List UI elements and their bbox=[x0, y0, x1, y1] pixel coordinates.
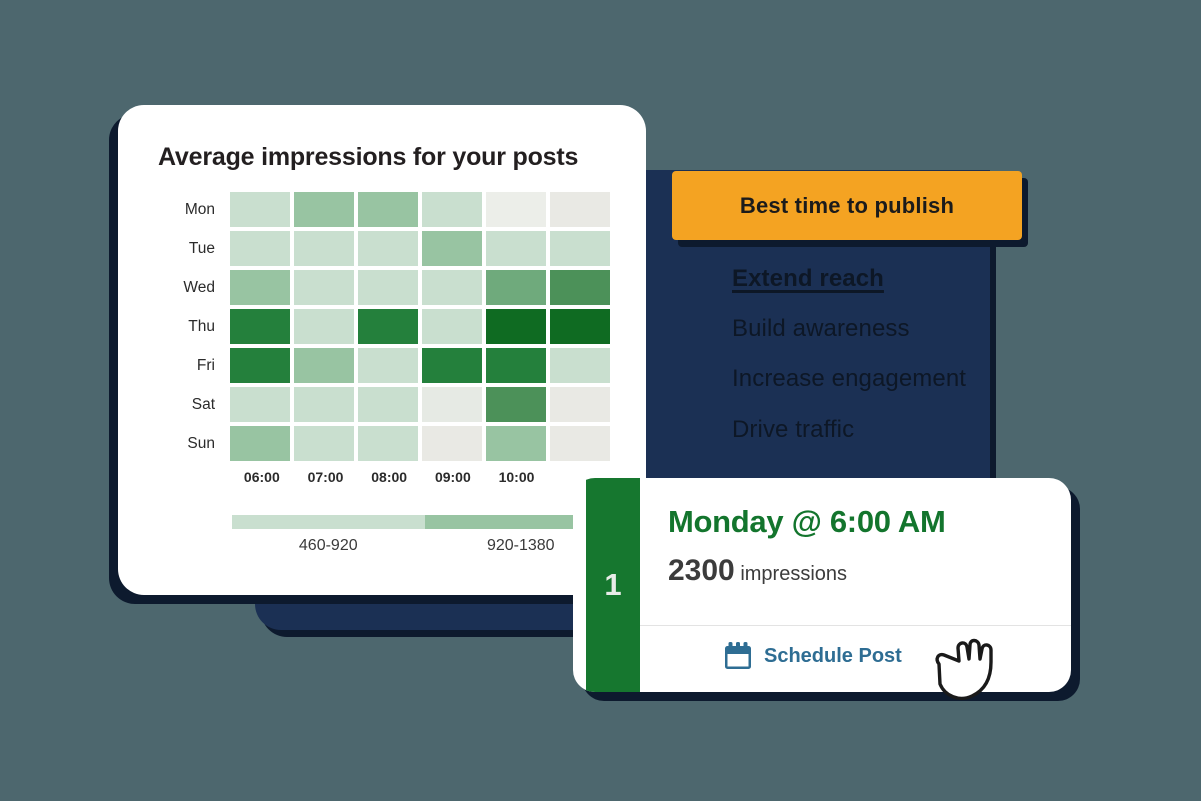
heatmap-cell[interactable] bbox=[358, 192, 418, 227]
heatmap-cell[interactable] bbox=[550, 270, 610, 305]
goal-item-build-awareness[interactable]: Build awareness bbox=[732, 316, 992, 341]
heatmap-cell[interactable] bbox=[358, 309, 418, 344]
recommendation-impressions: 2300 impressions bbox=[668, 554, 1071, 588]
screen-root: Extend reach Build awareness Increase en… bbox=[0, 0, 1201, 801]
page-title: Average impressions for your posts bbox=[158, 143, 578, 172]
heatmap-row-cells bbox=[230, 348, 610, 383]
heatmap-row: Thu bbox=[155, 307, 610, 346]
goal-label: Build awareness bbox=[732, 315, 910, 342]
legend-gradient-bar bbox=[232, 515, 617, 529]
heatmap-row-label: Sun bbox=[155, 435, 230, 453]
legend-labels: 460-920 920-1380 bbox=[232, 537, 617, 555]
heatmap-row: Tue bbox=[155, 229, 610, 268]
heatmap-cell[interactable] bbox=[486, 387, 546, 422]
heatmap-row: Mon bbox=[155, 190, 610, 229]
heatmap-cell[interactable] bbox=[550, 387, 610, 422]
x-axis-tick: 06:00 bbox=[232, 469, 292, 485]
heatmap-row-cells bbox=[230, 426, 610, 461]
heatmap-cell[interactable] bbox=[422, 348, 482, 383]
heatmap-row-label: Mon bbox=[155, 201, 230, 219]
x-axis-tick: 09:00 bbox=[423, 469, 483, 485]
heatmap-cell[interactable] bbox=[550, 348, 610, 383]
heatmap-cell[interactable] bbox=[550, 231, 610, 266]
heatmap-row-cells bbox=[230, 387, 610, 422]
heatmap-cell[interactable] bbox=[230, 231, 290, 266]
goal-label: Increase engagement bbox=[732, 365, 966, 392]
recommendation-body: Monday @ 6:00 AM 2300 impressions bbox=[668, 478, 1071, 588]
heatmap-cell[interactable] bbox=[550, 426, 610, 461]
heatmap-cell[interactable] bbox=[486, 192, 546, 227]
heatmap-cell[interactable] bbox=[230, 348, 290, 383]
heatmap-cell[interactable] bbox=[230, 270, 290, 305]
heatmap-row: Sun bbox=[155, 424, 610, 463]
heatmap-cell[interactable] bbox=[358, 387, 418, 422]
heatmap-row-label: Sat bbox=[155, 396, 230, 414]
heatmap-cell[interactable] bbox=[358, 231, 418, 266]
recommendation-headline: Monday @ 6:00 AM bbox=[668, 504, 1071, 540]
heatmap-cell[interactable] bbox=[294, 426, 354, 461]
heatmap-cell[interactable] bbox=[486, 270, 546, 305]
heatmap-cell[interactable] bbox=[294, 348, 354, 383]
heatmap-row-label: Fri bbox=[155, 357, 230, 375]
heatmap-cell[interactable] bbox=[422, 270, 482, 305]
x-axis-tick: 10:00 bbox=[487, 469, 547, 485]
heatmap-x-axis: 06:00 07:00 08:00 09:00 10:00 bbox=[232, 469, 610, 485]
x-axis-tick: 08:00 bbox=[359, 469, 419, 485]
legend-swatch bbox=[232, 515, 425, 529]
heatmap-legend: 460-920 920-1380 bbox=[232, 515, 617, 555]
heatmap-row: Wed bbox=[155, 268, 610, 307]
goal-label: Drive traffic bbox=[732, 416, 854, 443]
goal-list: Extend reach Build awareness Increase en… bbox=[732, 266, 992, 467]
legend-label: 460-920 bbox=[232, 537, 425, 555]
heatmap-cell[interactable] bbox=[550, 309, 610, 344]
heatmap-cell[interactable] bbox=[230, 387, 290, 422]
impressions-label: impressions bbox=[740, 563, 847, 585]
impressions-card: Average impressions for your posts Mon T… bbox=[118, 105, 646, 595]
goal-label: Extend reach bbox=[732, 265, 884, 292]
heatmap-cell[interactable] bbox=[294, 231, 354, 266]
divider bbox=[640, 625, 1071, 626]
heatmap-cell[interactable] bbox=[486, 426, 546, 461]
heatmap-row-cells bbox=[230, 231, 610, 266]
heatmap-cell[interactable] bbox=[550, 192, 610, 227]
heatmap-row-cells bbox=[230, 309, 610, 344]
heatmap-row: Fri bbox=[155, 346, 610, 385]
heatmap: Mon Tue bbox=[155, 190, 610, 485]
heatmap-cell[interactable] bbox=[294, 270, 354, 305]
heatmap-cell[interactable] bbox=[358, 426, 418, 461]
heatmap-row-label: Tue bbox=[155, 240, 230, 258]
heatmap-row-label: Thu bbox=[155, 318, 230, 336]
calendar-icon bbox=[723, 642, 753, 671]
heatmap-cell[interactable] bbox=[422, 387, 482, 422]
heatmap-cell[interactable] bbox=[294, 309, 354, 344]
heatmap-cell[interactable] bbox=[486, 348, 546, 383]
heatmap-cell[interactable] bbox=[294, 387, 354, 422]
heatmap-cell[interactable] bbox=[358, 270, 418, 305]
heatmap-cell[interactable] bbox=[422, 426, 482, 461]
heatmap-cell[interactable] bbox=[230, 426, 290, 461]
impressions-value: 2300 bbox=[668, 554, 735, 587]
heatmap-cell[interactable] bbox=[486, 231, 546, 266]
heatmap-cell[interactable] bbox=[486, 309, 546, 344]
heatmap-row: Sat bbox=[155, 385, 610, 424]
heatmap-row-cells bbox=[230, 270, 610, 305]
x-axis-tick: 07:00 bbox=[296, 469, 356, 485]
goal-item-increase-engagement[interactable]: Increase engagement bbox=[732, 366, 992, 391]
goal-item-drive-traffic[interactable]: Drive traffic bbox=[732, 417, 992, 442]
rank-badge: 1 bbox=[586, 478, 640, 692]
heatmap-cell[interactable] bbox=[294, 192, 354, 227]
heatmap-cell[interactable] bbox=[422, 192, 482, 227]
heatmap-cell[interactable] bbox=[422, 231, 482, 266]
heatmap-row-cells bbox=[230, 192, 610, 227]
schedule-post-button[interactable]: Schedule Post bbox=[723, 642, 902, 671]
heatmap-cell[interactable] bbox=[422, 309, 482, 344]
best-time-to-publish-button[interactable]: Best time to publish bbox=[672, 171, 1022, 240]
schedule-post-label: Schedule Post bbox=[764, 645, 902, 668]
recommendation-card: 1 Monday @ 6:00 AM 2300 impressions Sche… bbox=[573, 478, 1071, 692]
heatmap-cell[interactable] bbox=[230, 192, 290, 227]
goal-item-extend-reach[interactable]: Extend reach bbox=[732, 266, 992, 291]
heatmap-row-label: Wed bbox=[155, 279, 230, 297]
heatmap-cell[interactable] bbox=[230, 309, 290, 344]
heatmap-cell[interactable] bbox=[358, 348, 418, 383]
